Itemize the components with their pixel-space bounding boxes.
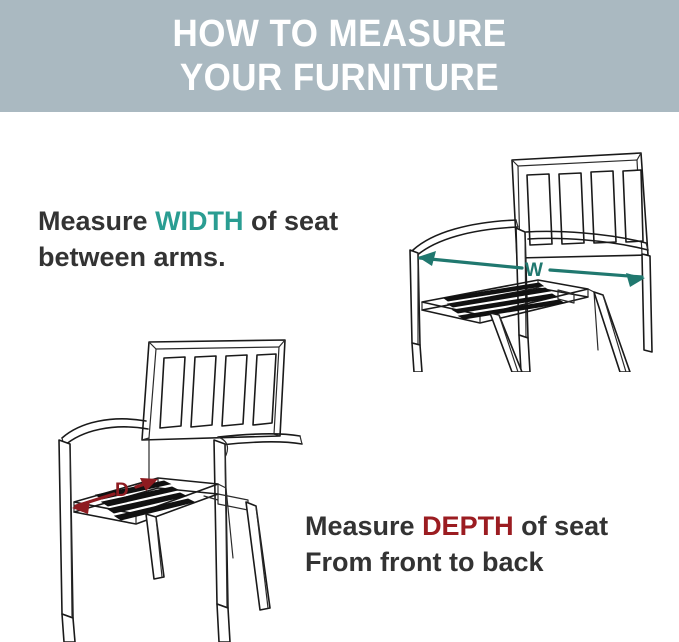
leg-rear-right-edge (603, 295, 626, 372)
leg-front-left (412, 343, 422, 372)
left-armrest-front (415, 227, 518, 257)
width-instruction-line-1: Measure WIDTH of seat (38, 203, 338, 239)
backrest-slat-3 (591, 171, 616, 243)
backrest-slat-2 (191, 356, 216, 427)
leg-front-left (62, 614, 75, 642)
left-armrest-top (413, 220, 516, 250)
width-text-after: of seat (244, 206, 339, 236)
page-title-line-2: YOUR FURNITURE (180, 56, 499, 100)
right-armrest-front (220, 442, 302, 445)
depth-instruction-line-1: Measure DEPTH of seat (305, 508, 608, 544)
backrest-slat-4 (623, 170, 643, 242)
width-dimension-label: W (525, 260, 543, 281)
leg-front-right (217, 604, 230, 642)
width-arrow-shaft-left (420, 258, 522, 268)
depth-text-after: of seat (514, 511, 609, 541)
backrest-slat-1 (527, 174, 552, 245)
width-keyword: WIDTH (155, 206, 243, 236)
depth-keyword: DEPTH (422, 511, 514, 541)
depth-text-before: Measure (305, 511, 422, 541)
left-armrest-front (64, 427, 148, 446)
depth-instruction-line-2: From front to back (305, 544, 608, 580)
depth-chair-illustration: D (18, 318, 318, 642)
depth-dimension-label: D (115, 480, 129, 501)
backrest-slat-4 (253, 354, 276, 425)
backrest-slat-1 (160, 357, 185, 428)
page-title-line-1: HOW TO MEASURE (172, 12, 506, 56)
width-instruction-line-2: between arms. (38, 239, 338, 275)
depth-instruction-text: Measure DEPTH of seat From front to back (305, 508, 608, 580)
width-instruction-text: Measure WIDTH of seat between arms. (38, 203, 338, 275)
backrest-slat-3 (222, 355, 247, 426)
leg-rear-right (594, 292, 630, 372)
right-armrest-cap (300, 436, 302, 444)
back-post-right (642, 254, 652, 352)
leg-rear-center (490, 313, 522, 372)
width-text-before: Measure (38, 206, 155, 236)
header-banner: HOW TO MEASURE YOUR FURNITURE (0, 0, 679, 112)
width-chair-illustration: W (398, 140, 679, 372)
leg-front-right (519, 335, 530, 372)
